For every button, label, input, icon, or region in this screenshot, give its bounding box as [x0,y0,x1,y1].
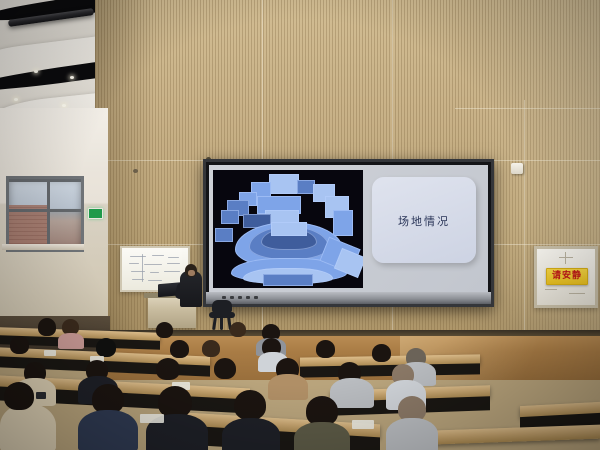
lecture-hall-photo: 场地情况 请安静 [0,0,600,450]
display-button[interactable] [254,296,258,299]
display-screen: 场地情况 [209,165,488,292]
student-head [170,340,189,358]
student-head [316,340,335,358]
student-head [4,382,34,410]
student-body [58,333,84,349]
student-head [96,338,116,357]
student-head [10,336,29,354]
student-head [156,358,180,380]
student-body [222,418,280,450]
desk-row [410,425,600,446]
quiet-sign-text: 请安静 [552,272,582,281]
left-wall-upper [0,108,108,170]
exit-sign-icon [88,208,103,219]
slide-text-card: 场地情况 [372,177,476,263]
window [6,176,84,252]
display-button[interactable] [222,296,226,299]
display-button[interactable] [230,296,234,299]
slide-heading: 场地情况 [372,213,476,229]
wall-switch[interactable] [511,163,523,174]
student-head [372,344,391,362]
student-body [78,410,138,450]
slide-3d-model [213,170,363,288]
paper-sheet [44,350,56,356]
student-head [38,318,56,336]
student-body [386,418,438,450]
display-button[interactable] [238,296,242,299]
downlight-icon [14,98,18,101]
presenter-face [188,270,195,276]
student-body [330,378,374,408]
paper-sheet [352,420,374,429]
phone[interactable] [36,392,46,399]
downlight-icon [62,104,66,107]
student-head [230,322,246,337]
student-body [0,404,56,450]
paper-sheet [140,414,164,423]
student-head [234,390,266,420]
student-body [294,422,350,450]
presentation-display[interactable]: 场地情况 [203,159,494,307]
wall-sensor-icon [133,169,138,173]
student-body [268,374,308,400]
student-head [156,322,173,338]
display-button[interactable] [246,296,250,299]
downlight-icon [70,76,74,79]
student-head [202,340,220,357]
display-bezel [206,292,491,304]
student-head [214,358,236,379]
downlight-icon [34,70,38,73]
slide: 场地情况 [209,165,488,292]
quiet-sign: 请安静 [546,268,588,285]
window-sill [2,244,84,250]
